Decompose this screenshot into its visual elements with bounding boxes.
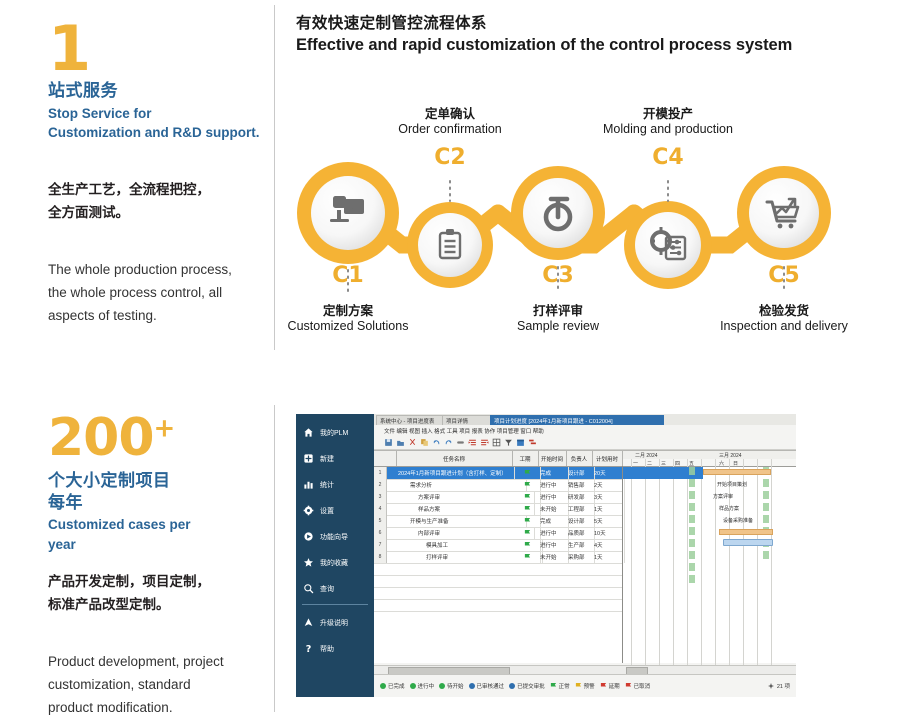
timeline-weekend <box>689 503 695 511</box>
stat-number-200-plus: + <box>154 414 175 444</box>
help-icon: ? <box>302 642 315 655</box>
timeline-weekend <box>689 467 695 475</box>
app-toolbar <box>374 436 796 450</box>
sidebar-item-new[interactable]: 新建 <box>302 448 372 469</box>
timeline-day: 二 <box>647 460 652 467</box>
process-diagram: C1 C2 C3 C4 C5 定单确认 Order confirmation 开… <box>290 95 890 345</box>
app-grid: 任务名称 工期 开始时间 负责人 计划用时 1 2024年1月新项目跟进计划（含… <box>374 450 796 663</box>
gantt-bar-label: 开始项目策划 <box>717 481 747 488</box>
step-label-en-c5: Inspection and delivery <box>684 319 884 333</box>
filter-icon[interactable] <box>504 438 513 447</box>
svg-text:?: ? <box>306 644 312 654</box>
sidebar-item-help[interactable]: ? 帮助 <box>302 638 372 659</box>
flag-icon-yellow <box>575 683 582 690</box>
timeline-day: 日 <box>733 460 738 467</box>
sidebar-item-search[interactable]: 查询 <box>302 578 372 599</box>
col-head-start[interactable]: 开始时间 <box>538 451 567 466</box>
cell-status: 完成 <box>538 467 569 479</box>
cell-status: 完成 <box>538 515 569 527</box>
sidebar-label-guide: 功能向导 <box>320 532 348 542</box>
step-code-c1: C1 <box>318 263 378 288</box>
cell-flag <box>512 503 541 515</box>
cell-duration: 10天 <box>592 527 625 539</box>
cell-status: 未开始 <box>538 551 569 563</box>
timeline-gridline <box>673 459 674 671</box>
step-code-c2: C2 <box>420 145 480 170</box>
timeline-gridline <box>715 459 716 671</box>
add-file-icon <box>302 452 315 465</box>
gantt-bar-task[interactable] <box>719 529 773 535</box>
timeline-gridline <box>631 459 632 671</box>
app-sidebar: 我的PLM 新建 统计 设置 功能向导 我的收藏 查询 升级说明 <box>296 414 374 697</box>
app-statusbar: 已完成 进行中 待开始 已审核通过 已提交审批 正常 预警 延期 已取消 21 … <box>374 674 796 697</box>
cell-duration: 5天 <box>592 515 625 527</box>
step-label-cn-c3: 打样评审 <box>458 300 658 319</box>
sidebar-label-help: 帮助 <box>320 644 334 654</box>
app-main: 系统中心 - 项目进度表 项目详情 项目计划进度 [2024年1月新项目跟进 -… <box>374 414 796 697</box>
cell-dept: 设计部 <box>566 515 595 527</box>
section-title-en: Effective and rapid customization of the… <box>296 36 792 55</box>
cell-flag <box>512 551 541 563</box>
timeline-gridline <box>729 459 730 671</box>
legend-label: 待开始 <box>447 682 464 690</box>
guide-icon <box>302 530 315 543</box>
status-dot <box>410 683 416 689</box>
legend-label: 已提交审批 <box>517 682 545 690</box>
sidebar-item-guide[interactable]: 功能向导 <box>302 526 372 547</box>
cell-task-name: 开模与生产准备 <box>396 515 527 527</box>
block2-heading-cn-line1: 个大小定制项目 <box>48 470 171 492</box>
cell-duration: 3天 <box>592 491 625 503</box>
step-label-cn-c2: 定单确认 <box>350 103 550 122</box>
flag-icon-green <box>550 683 557 690</box>
cell-duration: 2天 <box>592 479 625 491</box>
timeline-weekend <box>689 551 695 559</box>
sidebar-item-my-plm[interactable]: 我的PLM <box>302 422 372 443</box>
timeline-gridline <box>757 459 758 671</box>
link-icon[interactable] <box>456 438 465 447</box>
col-head-planned[interactable]: 计划用时 <box>592 451 623 466</box>
timeline-gridline <box>687 459 688 671</box>
timeline-weekend <box>689 539 695 547</box>
cell-duration: 1天 <box>592 503 625 515</box>
block2-body-en-line1: Product development, project <box>48 650 224 673</box>
block2-heading-en-line1: Customized cases per <box>48 516 191 533</box>
app-menubar[interactable]: 文件 编辑 视图 插入 格式 工具 项目 报表 协作 项目管理 窗口 帮助 <box>374 425 796 436</box>
cell-flag <box>512 491 541 503</box>
step-label-en-c3: Sample review <box>458 319 658 333</box>
timeline-weekend <box>763 491 769 499</box>
statusbar-count-label: 21 项 <box>777 682 790 690</box>
step-label-en-c2: Order confirmation <box>350 122 550 136</box>
legend-item: 正常 <box>550 682 570 690</box>
timeline-day: 三 <box>661 460 666 467</box>
sidebar-label-new: 新建 <box>320 454 334 464</box>
cell-flag <box>512 539 541 551</box>
row-number: 5 <box>374 515 387 527</box>
timeline-gridline <box>701 459 702 671</box>
timeline-day: 一 <box>633 460 638 467</box>
sidebar-label-my-plm: 我的PLM <box>320 428 348 438</box>
home-icon <box>302 426 315 439</box>
cell-status: 未开始 <box>538 503 569 515</box>
status-dot <box>380 683 386 689</box>
step-label-en-c1: Customized Solutions <box>248 319 448 333</box>
gantt-bar-label: 样品方案 <box>719 505 739 512</box>
legend-item: 已提交审批 <box>509 682 545 690</box>
sidebar-label-search: 查询 <box>320 584 334 594</box>
cell-dept: 生产部 <box>566 539 595 551</box>
timeline-day: 四 <box>675 460 680 467</box>
section-title-cn: 有效快速定制管控流程体系 <box>296 11 487 33</box>
stat-number-200: 200+ <box>48 412 174 464</box>
cell-duration: 20天 <box>592 467 625 479</box>
calendar-icon[interactable] <box>516 438 525 447</box>
sidebar-label-stats: 统计 <box>320 480 334 490</box>
sidebar-item-settings[interactable]: 设置 <box>302 500 372 521</box>
flag-icon-red-cancel <box>625 683 632 690</box>
timeline-weekend <box>689 491 695 499</box>
timeline-day: 五 <box>689 460 694 467</box>
step-code-c3: C3 <box>528 263 588 288</box>
process-node-c2 <box>407 202 493 288</box>
status-dot <box>509 683 515 689</box>
row-number: 3 <box>374 491 387 503</box>
legend-label: 已取消 <box>634 682 651 690</box>
timeline-gridline <box>659 459 660 671</box>
legend-item: 已取消 <box>625 682 651 690</box>
cell-flag <box>512 515 541 527</box>
table-row-empty[interactable] <box>374 599 622 612</box>
cut-icon[interactable] <box>408 438 417 447</box>
block2-body-cn-line1: 产品开发定制，项目定制， <box>48 570 210 593</box>
row-number: 8 <box>374 551 387 563</box>
block1-body-cn-line1: 全生产工艺，全流程把控， <box>48 178 210 201</box>
block2-body-en-line3: product modification. <box>48 696 173 719</box>
cell-flag <box>512 479 541 491</box>
status-dot <box>469 683 475 689</box>
status-dot <box>439 683 445 689</box>
process-node-c5 <box>737 166 831 260</box>
pin-icon <box>768 683 774 689</box>
task-table: 任务名称 工期 开始时间 负责人 计划用时 1 2024年1月新项目跟进计划（含… <box>374 451 623 663</box>
step-label-en-c4: Molding and production <box>568 122 768 136</box>
block2-heading-en-line2: year <box>48 536 76 553</box>
gear-icon <box>302 504 315 517</box>
block1-heading-cn: 站式服务 <box>48 80 118 102</box>
step-label-cn-c5: 检验发货 <box>684 300 884 319</box>
row-number: 7 <box>374 539 387 551</box>
copy-icon[interactable] <box>420 438 429 447</box>
legend-label: 延期 <box>609 682 620 690</box>
gantt-timeline: 二月 2024 三月 2024 一 二 三 四 五 六 日 <box>623 451 796 663</box>
process-node-c1 <box>297 162 399 264</box>
redo-icon[interactable] <box>444 438 453 447</box>
star-icon <box>302 556 315 569</box>
sidebar-label-settings: 设置 <box>320 506 334 516</box>
block1-heading-en-line1: Stop Service for <box>48 105 152 122</box>
row-number: 4 <box>374 503 387 515</box>
legend-item: 预警 <box>575 682 595 690</box>
sidebar-separator <box>302 604 368 605</box>
timeline-weekend <box>689 563 695 571</box>
timeline-weekend <box>763 551 769 559</box>
app-screenshot: 我的PLM 新建 统计 设置 功能向导 我的收藏 查询 升级说明 <box>296 414 796 697</box>
timeline-month-1: 二月 2024 <box>635 452 658 459</box>
timeline-gridline <box>771 459 772 671</box>
timeline-weekend <box>689 527 695 535</box>
search-icon <box>302 582 315 595</box>
step-code-c4: C4 <box>638 145 698 170</box>
row-number: 1 <box>374 467 387 479</box>
block1-heading-en-line2: Customization and R&D support. <box>48 124 260 141</box>
legend-label: 已完成 <box>388 682 405 690</box>
app-tabbar: 系统中心 - 项目进度表 项目详情 项目计划进度 [2024年1月新项目跟进 -… <box>374 414 796 425</box>
sidebar-item-upgrade[interactable]: 升级说明 <box>302 612 372 633</box>
cell-status: 进行中 <box>538 479 569 491</box>
gantt-bar-summary[interactable] <box>703 469 771 475</box>
step-label-cn-c4: 开模投产 <box>568 103 768 122</box>
cell-status: 进行中 <box>538 491 569 503</box>
col-head-index[interactable] <box>374 451 397 466</box>
step-label-cn-c1: 定制方案 <box>248 300 448 319</box>
step-code-c5: C5 <box>754 263 814 288</box>
timeline-gridline <box>743 459 744 671</box>
stat-number-200-value: 200 <box>48 408 154 468</box>
indent-right-icon[interactable] <box>468 438 477 447</box>
col-head-owner[interactable]: 负责人 <box>566 451 593 466</box>
divider-top <box>274 5 275 350</box>
sidebar-label-favorites: 我的收藏 <box>320 558 348 568</box>
cell-status: 进行中 <box>538 539 569 551</box>
block1-body-en-line2: the whole process control, all <box>48 281 222 304</box>
cell-dept: 品质部 <box>566 527 595 539</box>
process-node-c3 <box>511 166 605 260</box>
block1-body-en-line1: The whole production process, <box>48 258 232 281</box>
sidebar-item-favorites[interactable]: 我的收藏 <box>302 552 372 573</box>
cell-dept: 工程部 <box>566 503 595 515</box>
cell-task-name: 2024年1月新项目跟进计划（含打样、定制） <box>396 467 515 479</box>
cell-flag <box>512 467 541 479</box>
timeline-weekend <box>689 515 695 523</box>
gantt-bar-label: 方案评审 <box>713 493 733 500</box>
legend-label: 进行中 <box>418 682 435 690</box>
statusbar-count: 21 项 <box>768 682 790 690</box>
sidebar-label-upgrade: 升级说明 <box>320 618 348 628</box>
timeline-weekend <box>689 479 695 487</box>
legend-label: 正常 <box>559 682 570 690</box>
cell-duration: 4天 <box>592 539 625 551</box>
legend-item: 待开始 <box>439 682 464 690</box>
cell-task-name: 需求分析 <box>396 479 527 491</box>
legend-label: 已审核通过 <box>477 682 505 690</box>
col-head-name[interactable]: 任务名称 <box>396 451 513 466</box>
grid-view-icon[interactable] <box>492 438 501 447</box>
block2-heading-cn-line2: 每年 <box>48 492 83 514</box>
cell-dept: 销售部 <box>566 479 595 491</box>
timeline-weekend <box>763 503 769 511</box>
cell-dept: 研发部 <box>566 491 595 503</box>
legend-item: 延期 <box>600 682 620 690</box>
sidebar-item-stats[interactable]: 统计 <box>302 474 372 495</box>
chart-bar-icon <box>302 478 315 491</box>
block2-body-cn-line2: 标准产品改型定制。 <box>48 593 170 616</box>
flag-icon-red <box>600 683 607 690</box>
cell-dept: 设计部 <box>566 467 595 479</box>
undo-icon[interactable] <box>432 438 441 447</box>
row-number: 2 <box>374 479 387 491</box>
legend-label: 预警 <box>584 682 595 690</box>
cell-flag <box>512 527 541 539</box>
timeline-weekend <box>689 575 695 583</box>
cell-status: 进行中 <box>538 527 569 539</box>
gantt-bar-label: 设备采购准备 <box>723 517 753 524</box>
upgrade-icon <box>302 616 315 629</box>
save-icon[interactable] <box>384 438 393 447</box>
timeline-month-2: 三月 2024 <box>719 452 742 459</box>
stat-number-1: 1 <box>48 18 90 80</box>
timeline-day: 六 <box>719 460 724 467</box>
process-node-c4 <box>624 201 712 289</box>
row-number: 6 <box>374 527 387 539</box>
gantt-icon[interactable] <box>528 438 537 447</box>
col-head-duration[interactable]: 工期 <box>512 451 539 466</box>
open-icon[interactable] <box>396 438 405 447</box>
legend-item: 进行中 <box>410 682 435 690</box>
gantt-bar-task-progress[interactable] <box>723 539 773 546</box>
block1-body-en-line3: aspects of testing. <box>48 304 157 327</box>
timeline-weekend <box>763 515 769 523</box>
block1-body-cn-line2: 全方面测试。 <box>48 201 129 224</box>
block2-body-en-line2: customization, standard <box>48 673 191 696</box>
indent-left-icon[interactable] <box>480 438 489 447</box>
cell-dept: 采购部 <box>566 551 595 563</box>
legend-item: 已审核通过 <box>469 682 505 690</box>
task-table-header: 任务名称 工期 开始时间 负责人 计划用时 <box>374 451 622 467</box>
timeline-gridline <box>645 459 646 671</box>
divider-bottom <box>274 405 275 712</box>
cell-duration: 1天 <box>592 551 625 563</box>
timeline-weekend <box>763 479 769 487</box>
legend-item: 已完成 <box>380 682 405 690</box>
